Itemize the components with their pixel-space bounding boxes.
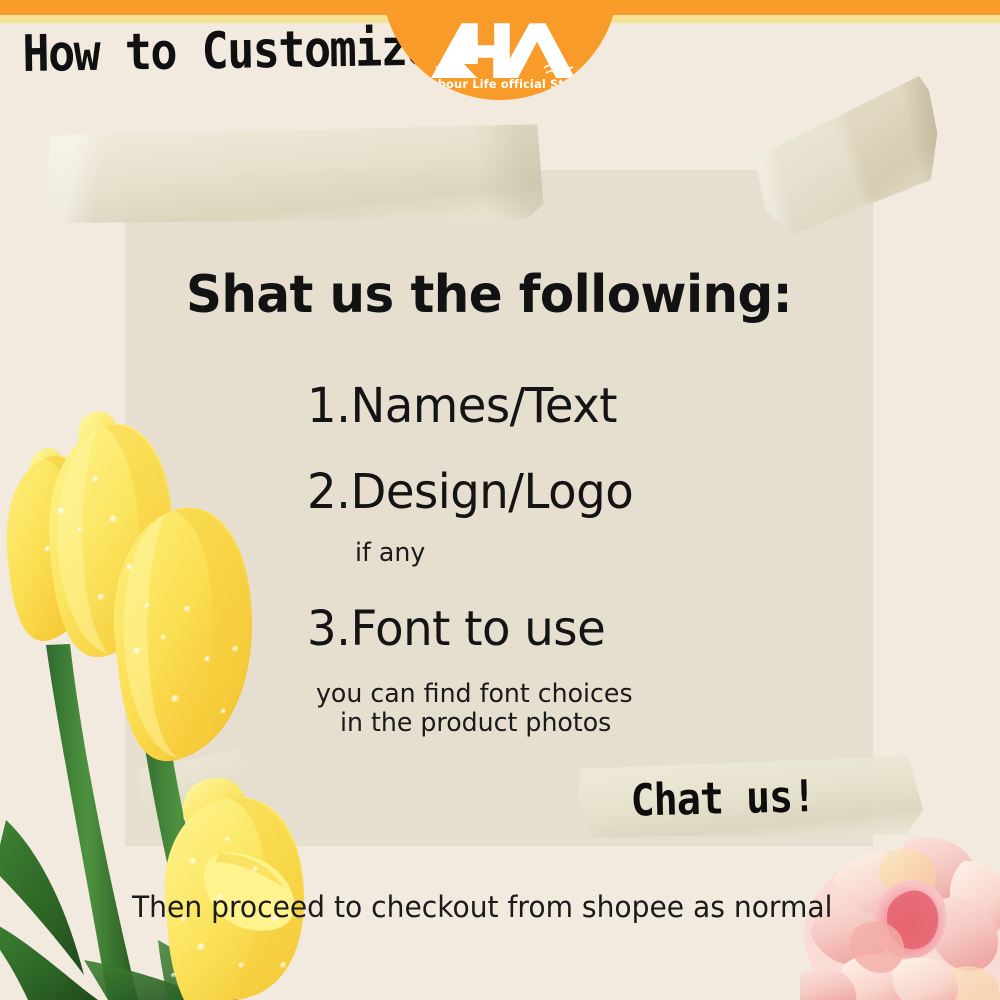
chat-us-label[interactable]: Chat us! [630, 771, 816, 826]
ha-monogram-icon [416, 2, 584, 78]
list-item-3: 3.Font to use [307, 601, 605, 657]
poster-canvas: Harbour Life official Store How to Custo… [0, 0, 1000, 1000]
list-item-1: 1.Names/Text [307, 378, 617, 434]
list-item-2: 2.Design/Logo [307, 464, 633, 520]
list-item-3-note-line2: in the product photos [340, 708, 611, 738]
headline: Shat us the following: [186, 265, 792, 325]
footer-note: Then proceed to checkout from shopee as … [132, 890, 832, 924]
washi-tape-title [47, 124, 543, 227]
brand-store-name: Harbour Life official Store [382, 77, 618, 91]
list-item-3-note-line1: you can find font choices [316, 679, 633, 709]
brand-badge: Harbour Life official Store [382, 0, 618, 100]
list-item-2-note: if any [355, 538, 425, 568]
